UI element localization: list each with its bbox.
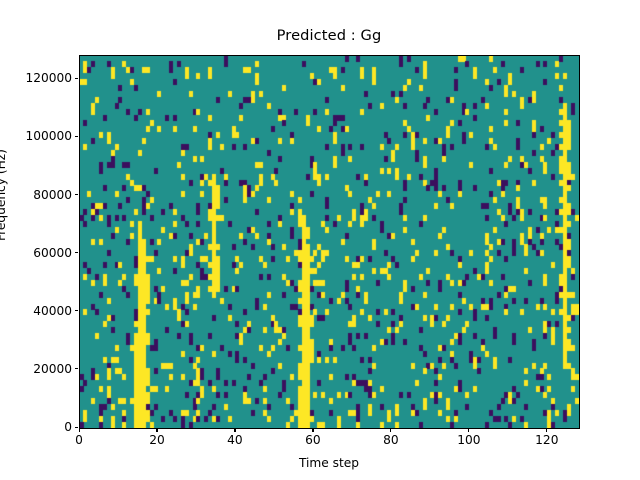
- matplotlib-figure: Predicted : Gg Frequency (Hz) Time step …: [0, 0, 640, 480]
- y-tick-label: 60000: [0, 246, 72, 260]
- y-tick-mark: [75, 78, 79, 79]
- y-tick-mark: [75, 368, 79, 369]
- x-tick-label: 60: [305, 433, 321, 447]
- y-tick-label: 120000: [0, 71, 72, 85]
- x-axis-label: Time step: [79, 456, 579, 470]
- x-tick-label: 100: [457, 433, 480, 447]
- y-tick-label: 80000: [0, 188, 72, 202]
- x-tick-label: 120: [535, 433, 558, 447]
- y-tick-mark: [75, 194, 79, 195]
- x-tick-label: 40: [227, 433, 243, 447]
- y-tick-label: 20000: [0, 362, 72, 376]
- y-tick-mark: [75, 310, 79, 311]
- y-tick-mark: [75, 252, 79, 253]
- x-tick-label: 20: [149, 433, 165, 447]
- heatmap-canvas: [80, 56, 579, 428]
- x-tick-label: 80: [383, 433, 399, 447]
- heatmap-plot-area: [79, 55, 580, 429]
- y-tick-label: 0: [0, 420, 72, 434]
- x-tick-label: 0: [75, 433, 83, 447]
- chart-title: Predicted : Gg: [79, 27, 579, 44]
- y-tick-mark: [75, 136, 79, 137]
- y-tick-label: 40000: [0, 304, 72, 318]
- y-tick-label: 100000: [0, 129, 72, 143]
